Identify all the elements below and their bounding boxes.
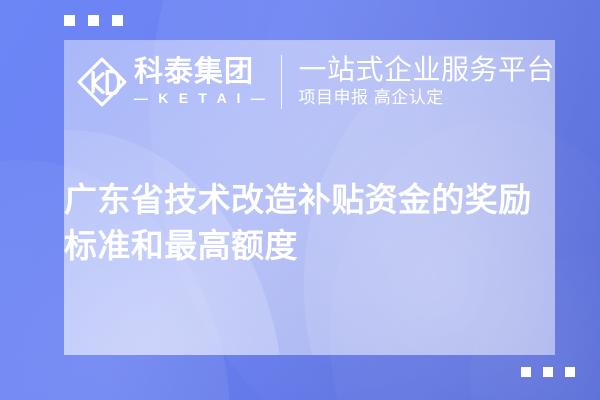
ketai-diamond-kd-logo-icon	[76, 56, 128, 108]
brand-lockup[interactable]: 科泰集团 — K E T A I —	[76, 56, 269, 108]
square-dot-icon	[565, 367, 575, 377]
square-dot-icon	[64, 15, 75, 26]
tagline-block: 一站式企业服务平台 项目申报 高企认定	[298, 54, 555, 110]
square-dot-icon	[543, 367, 553, 377]
dot-cluster-bottom-right	[521, 367, 575, 377]
brand-wordmark: 科泰集团 — K E T A I —	[134, 58, 268, 106]
tagline-main: 一站式企业服务平台	[298, 54, 555, 85]
article-cover-banner: 科泰集团 — K E T A I — 一站式企业服务平台 项目申报 高企认定 广…	[0, 0, 600, 400]
page-title: 广东省技术改造补贴资金的奖励标准和最高额度	[64, 177, 546, 269]
square-dot-icon	[112, 15, 123, 26]
banner-header: 科泰集团 — K E T A I — 一站式企业服务平台 项目申报 高企认定	[64, 40, 555, 124]
brand-name-en: — K E T A I —	[134, 91, 268, 106]
square-dot-icon	[88, 15, 99, 26]
brand-name-cn: 科泰集团	[134, 58, 268, 88]
tagline-sub: 项目申报 高企认定	[298, 88, 555, 108]
square-dot-icon	[521, 367, 531, 377]
dot-cluster-top-left	[64, 15, 123, 26]
header-divider	[281, 55, 283, 109]
